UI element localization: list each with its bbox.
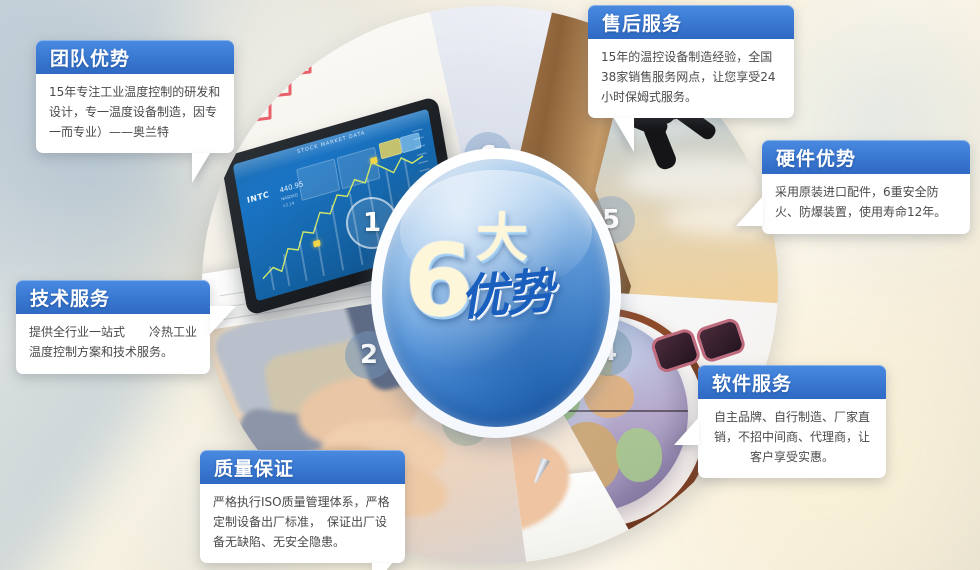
card-title-technical: 技术服务: [30, 284, 110, 311]
callout-card-quality-assurance[interactable]: 质量保证 严格执行ISO质量管理体系，严格定制设备出厂标准， 保证出厂设备无缺陷…: [200, 450, 405, 563]
card-body-software: 自主品牌、自行制造、厂家直销，不招中间商、代理商，让客户享受实惠。: [698, 399, 886, 478]
card-header-after-sales: 售后服务: [588, 5, 794, 39]
card-tail-quality: [372, 563, 392, 570]
card-body-quality: 严格执行ISO质量管理体系，严格定制设备出厂标准， 保证出厂设备无缺陷、无安全隐…: [200, 484, 405, 563]
callout-card-hardware-advantage[interactable]: 硬件优势 采用原装进口配件，6重安全防火、防爆装置，使用寿命12年。: [762, 140, 970, 234]
card-body-technical: 提供全行业一站式 冷热工业温度控制方案和技术服务。: [16, 314, 210, 374]
red-trend-line: [250, 6, 400, 130]
card-header-software: 软件服务: [698, 365, 886, 399]
card-header-hardware: 硬件优势: [762, 140, 970, 174]
callout-card-team-advantage[interactable]: 团队优势 15年专注工业温度控制的研发和设计，专一温度设备制造，因专一而专业）—…: [36, 40, 234, 153]
card-tail-after-sales: [614, 118, 634, 152]
card-header-team: 团队优势: [36, 40, 234, 74]
callout-card-technical-service[interactable]: 技术服务 提供全行业一站式 冷热工业温度控制方案和技术服务。: [16, 280, 210, 374]
card-header-quality: 质量保证: [200, 450, 405, 484]
card-body-team: 15年专注工业温度控制的研发和设计，专一温度设备制造，因专一而专业）——奥兰特: [36, 74, 234, 153]
hub-char-da: 大: [476, 213, 528, 265]
card-tail-software: [674, 417, 699, 445]
callout-card-after-sales-service[interactable]: 售后服务 15年的温控设备制造经验，全国38家销售服务网点，让您享受24小时保姆…: [588, 5, 794, 118]
infographic-canvas: STOCK MARKET DATA INTC 440.95 NASDAQ +2.…: [0, 0, 980, 570]
card-title-after-sales: 售后服务: [602, 9, 682, 36]
card-tail-technical: [210, 306, 236, 334]
card-body-after-sales: 15年的温控设备制造经验，全国38家销售服务网点，让您享受24小时保姆式服务。: [588, 39, 794, 118]
card-title-quality: 质量保证: [214, 454, 294, 481]
card-title-team: 团队优势: [50, 44, 130, 71]
hub-text-group: 6 大 优势: [382, 159, 610, 427]
hub-label-youshi: 优势: [458, 267, 554, 323]
card-header-technical: 技术服务: [16, 280, 210, 314]
callout-card-software-service[interactable]: 软件服务 自主品牌、自行制造、厂家直销，不招中间商、代理商，让客户享受实惠。: [698, 365, 886, 478]
card-tail-hardware: [736, 196, 763, 226]
card-tail-team: [192, 153, 210, 183]
card-body-hardware: 采用原装进口配件，6重安全防火、防爆装置，使用寿命12年。: [762, 174, 970, 234]
card-title-hardware: 硬件优势: [776, 144, 856, 171]
card-title-software: 软件服务: [712, 369, 792, 396]
